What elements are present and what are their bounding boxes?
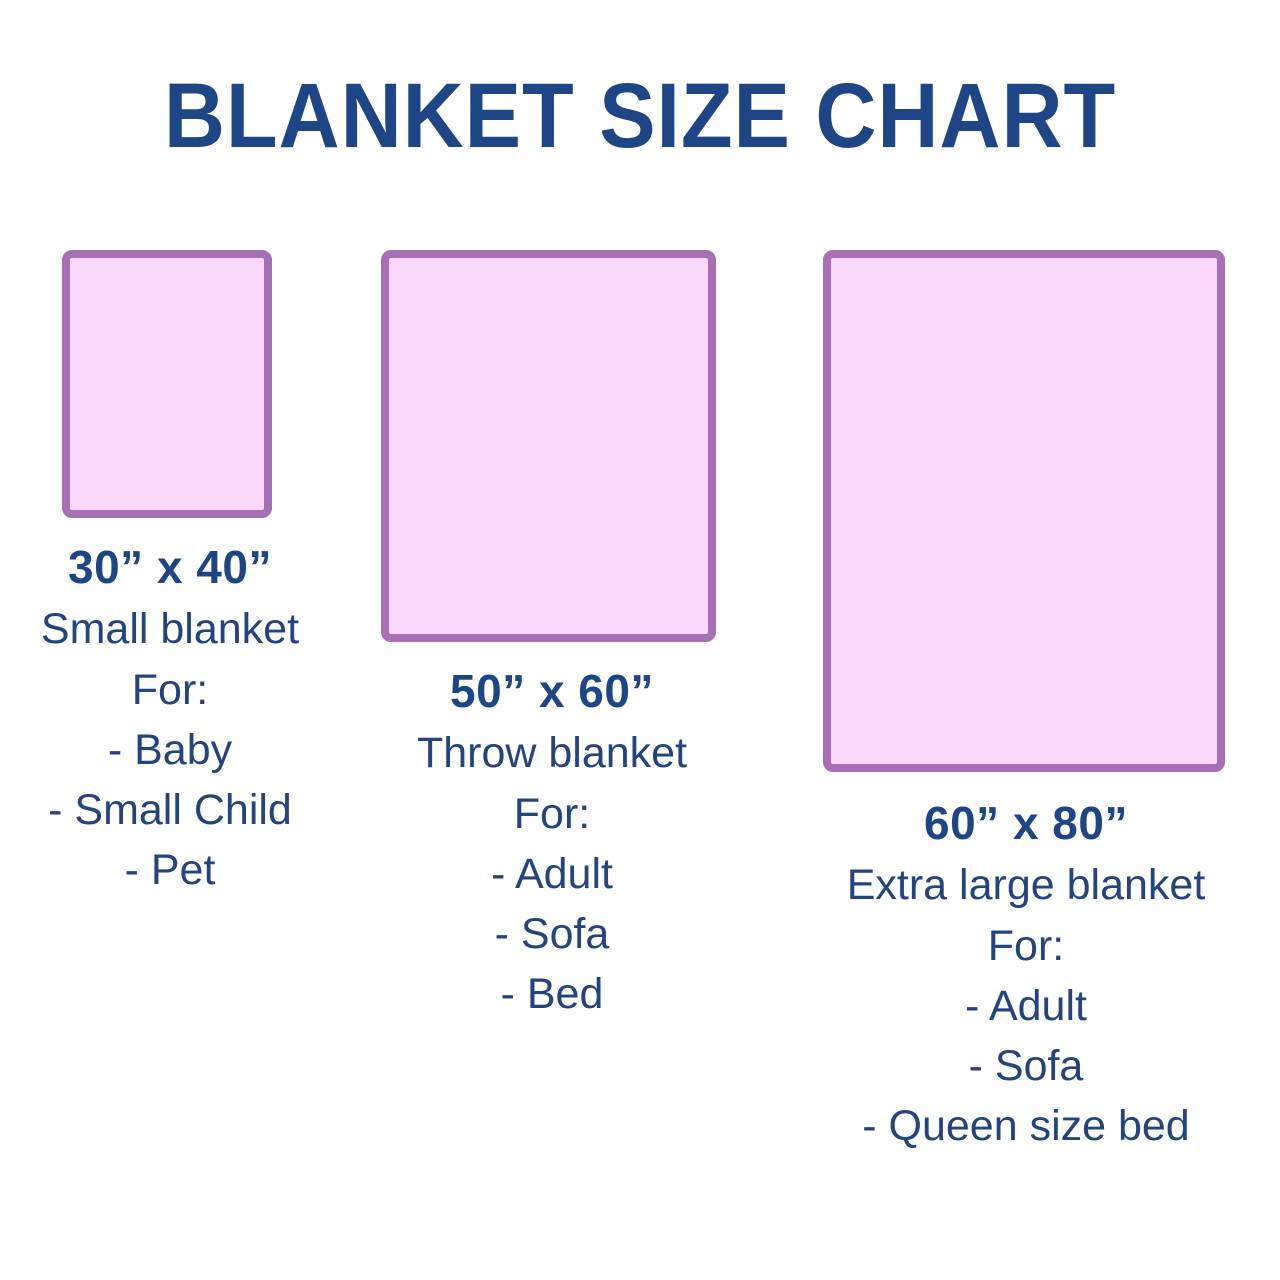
caption-throw: 50” x 60” Throw blanket For: - Adult - S…	[362, 660, 742, 1024]
use-list-small: - Baby - Small Child - Pet	[0, 720, 340, 900]
dimension-label-extra-large: 60” x 80”	[800, 792, 1252, 854]
for-label-extra-large: For:	[800, 916, 1252, 976]
caption-extra-large: 60” x 80” Extra large blanket For: - Adu…	[800, 792, 1252, 1156]
use-list-extra-large: - Adult - Sofa - Queen size bed	[800, 976, 1252, 1156]
for-label-small: For:	[0, 660, 340, 720]
use-item: - Queen size bed	[800, 1096, 1252, 1156]
use-item: - Adult	[800, 976, 1252, 1036]
blanket-name-throw: Throw blanket	[362, 722, 742, 784]
use-item: - Sofa	[362, 904, 742, 964]
use-list-throw: - Adult - Sofa - Bed	[362, 844, 742, 1024]
blanket-swatch-small	[62, 250, 272, 518]
blanket-name-extra-large: Extra large blanket	[800, 854, 1252, 916]
caption-small: 30” x 40” Small blanket For: - Baby - Sm…	[0, 536, 340, 900]
dimension-label-small: 30” x 40”	[0, 536, 340, 598]
blanket-swatch-throw	[381, 250, 716, 642]
blanket-name-small: Small blanket	[0, 598, 340, 660]
use-item: - Pet	[0, 840, 340, 900]
use-item: - Adult	[362, 844, 742, 904]
blanket-swatch-extra-large	[823, 250, 1225, 772]
use-item: - Small Child	[0, 780, 340, 840]
for-label-throw: For:	[362, 784, 742, 844]
use-item: - Bed	[362, 964, 742, 1024]
page-title: BLANKET SIZE CHART	[51, 68, 1229, 164]
dimension-label-throw: 50” x 60”	[362, 660, 742, 722]
blanket-size-chart: BLANKET SIZE CHART 30” x 40” Small blank…	[0, 0, 1280, 1280]
use-item: - Baby	[0, 720, 340, 780]
use-item: - Sofa	[800, 1036, 1252, 1096]
